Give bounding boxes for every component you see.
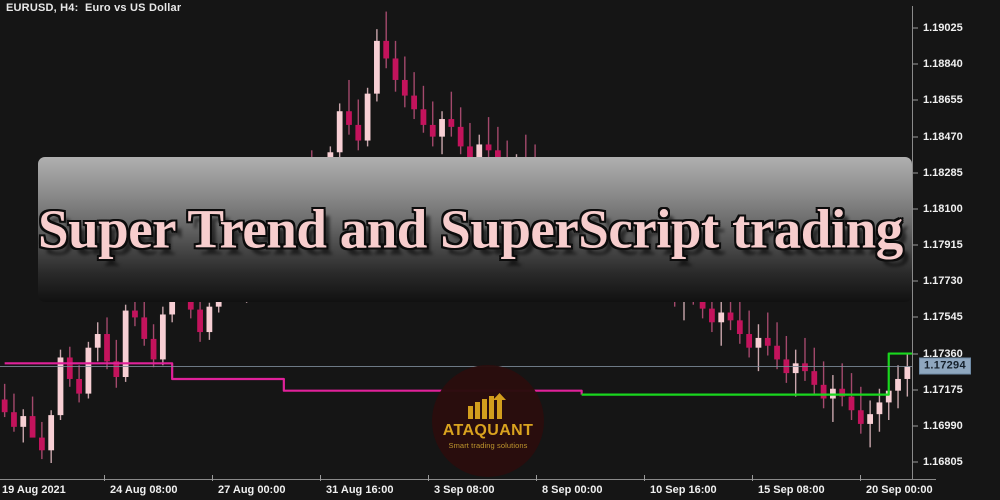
price-axis-tick: [913, 100, 918, 101]
time-axis-label: 24 Aug 08:00: [110, 484, 177, 496]
time-axis-label: 10 Sep 16:00: [650, 484, 717, 496]
price-axis-label: 1.18285: [923, 167, 963, 179]
price-axis-tick: [913, 462, 918, 463]
time-axis-tick: [536, 475, 537, 481]
price-axis-tick: [913, 64, 918, 65]
price-axis-label: 1.19025: [923, 22, 963, 34]
price-axis-label: 1.18470: [923, 131, 963, 143]
bar-chart-arrow-icon: [466, 393, 510, 421]
time-axis-label: 3 Sep 08:00: [434, 484, 495, 496]
price-axis-label: 1.16990: [923, 420, 963, 432]
price-axis-tick: [913, 317, 918, 318]
trading-chart-window: EURUSD, H4: Euro vs US Dollar 1.190251.1…: [0, 0, 1000, 500]
time-axis-label: 27 Aug 00:00: [218, 484, 285, 496]
current-price-line: [0, 366, 912, 367]
logo-name: ATAQUANT: [443, 423, 534, 439]
price-axis-tick: [913, 425, 918, 426]
time-axis-tick: [428, 475, 429, 481]
price-axis-label: 1.17175: [923, 384, 963, 396]
ataquant-watermark-logo: ATAQUANT Smart trading solutions: [432, 365, 544, 477]
time-axis-label: 20 Sep 00:00: [866, 484, 933, 496]
time-axis-tick: [104, 475, 105, 481]
price-axis-tick: [913, 136, 918, 137]
price-axis-tick: [913, 245, 918, 246]
time-axis-label: 8 Sep 00:00: [542, 484, 603, 496]
chart-title: EURUSD, H4: Euro vs US Dollar: [6, 2, 181, 14]
price-axis-label: 1.17730: [923, 275, 963, 287]
time-axis-tick: [212, 475, 213, 481]
strategy-title-text: Super Trend and SuperScript trading Stra…: [38, 201, 912, 256]
price-axis-tick: [913, 281, 918, 282]
logo-tagline: Smart trading solutions: [448, 442, 527, 450]
price-axis-label: 1.18655: [923, 94, 963, 106]
price-axis-label: 1.18100: [923, 203, 963, 215]
price-axis-label: 1.17915: [923, 239, 963, 251]
price-axis-tick: [913, 353, 918, 354]
current-price-badge[interactable]: 1.17294: [919, 358, 971, 375]
time-axis-tick: [860, 475, 861, 481]
time-axis-tick: [644, 475, 645, 481]
strategy-title-banner: Super Trend and SuperScript trading Stra…: [38, 157, 912, 302]
price-axis-label: 1.17545: [923, 311, 963, 323]
time-axis-line: [0, 479, 936, 480]
time-axis-tick: [320, 475, 321, 481]
time-axis-label: 19 Aug 2021: [2, 484, 66, 496]
price-axis-tick: [913, 389, 918, 390]
price-axis[interactable]: 1.190251.188401.186551.184701.182851.181…: [913, 0, 1000, 500]
price-axis-tick: [913, 172, 918, 173]
price-axis-tick: [913, 208, 918, 209]
time-axis-label: 31 Aug 16:00: [326, 484, 393, 496]
time-axis-label: 15 Sep 08:00: [758, 484, 825, 496]
price-axis-label: 1.16805: [923, 456, 963, 468]
time-axis[interactable]: 19 Aug 202124 Aug 08:0027 Aug 00:0031 Au…: [0, 481, 1000, 500]
time-axis-tick: [752, 475, 753, 481]
price-axis-tick: [913, 28, 918, 29]
price-axis-label: 1.18840: [923, 58, 963, 70]
